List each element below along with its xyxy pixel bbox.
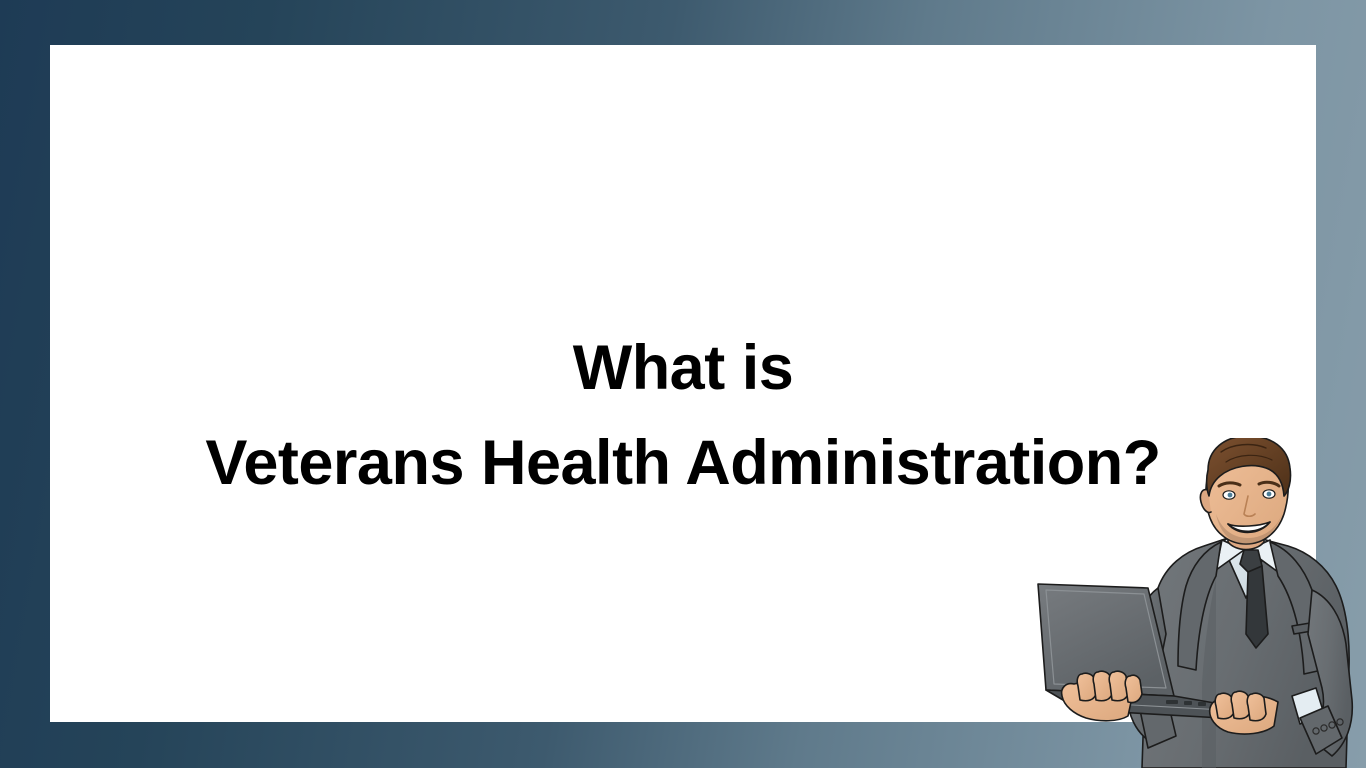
slide-title-line-1: What is — [50, 333, 1316, 403]
slide-canvas: What is Veterans Health Administration? — [0, 0, 1366, 768]
slide-content-panel: What is Veterans Health Administration? — [50, 45, 1316, 722]
slide-title-line-2: Veterans Health Administration? — [50, 428, 1316, 498]
